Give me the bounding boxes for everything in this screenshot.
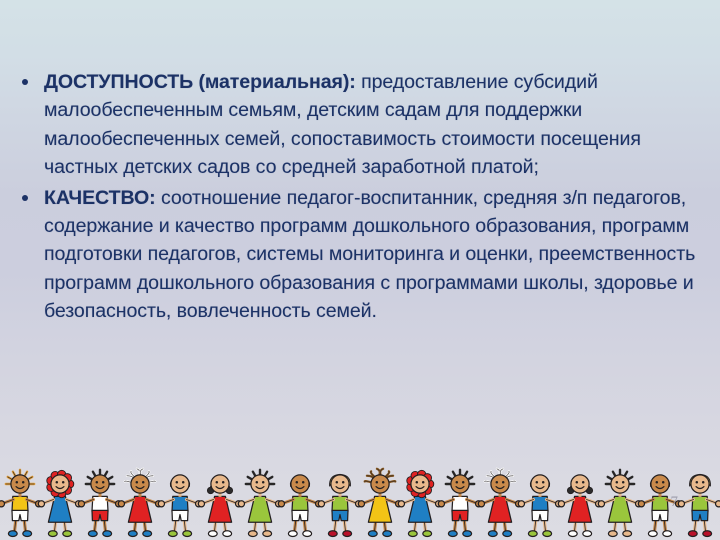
bullet-lead-quality: КАЧЕСТВО: bbox=[44, 187, 156, 209]
child-figure bbox=[358, 469, 401, 537]
child-figure bbox=[678, 474, 720, 536]
child-figure bbox=[198, 475, 241, 537]
child-figure bbox=[78, 470, 121, 537]
child-figure bbox=[118, 469, 161, 537]
child-figure bbox=[478, 469, 521, 537]
child-figure bbox=[158, 475, 201, 537]
child-figure bbox=[0, 470, 42, 537]
child-figure bbox=[318, 474, 361, 536]
child-figure bbox=[598, 470, 641, 537]
child-figure bbox=[558, 475, 601, 537]
bullet-lead-accessibility: ДОСТУПНОСТЬ (материальная): bbox=[44, 71, 356, 93]
child-figure bbox=[518, 475, 561, 537]
bullet-item-quality: КАЧЕСТВО: соотношение педагог-воспитанни… bbox=[14, 184, 706, 326]
child-figure bbox=[238, 470, 281, 537]
child-figure bbox=[398, 470, 441, 536]
child-figure bbox=[278, 475, 321, 537]
child-figure bbox=[38, 470, 81, 536]
child-figure bbox=[438, 470, 481, 537]
bullet-list: ДОСТУПНОСТЬ (материальная): предоставлен… bbox=[14, 68, 706, 326]
slide-body-text: ДОСТУПНОСТЬ (материальная): предоставлен… bbox=[14, 68, 706, 328]
children-illustration bbox=[0, 448, 720, 540]
bullet-item-accessibility: ДОСТУПНОСТЬ (материальная): предоставлен… bbox=[14, 68, 706, 182]
children-holding-hands-icon bbox=[0, 448, 720, 540]
bullet-dot-icon bbox=[22, 79, 28, 85]
slide-canvas: ДОСТУПНОСТЬ (материальная): предоставлен… bbox=[0, 0, 720, 540]
bullet-dot-icon bbox=[22, 195, 28, 201]
page-number: 7 bbox=[671, 494, 679, 511]
